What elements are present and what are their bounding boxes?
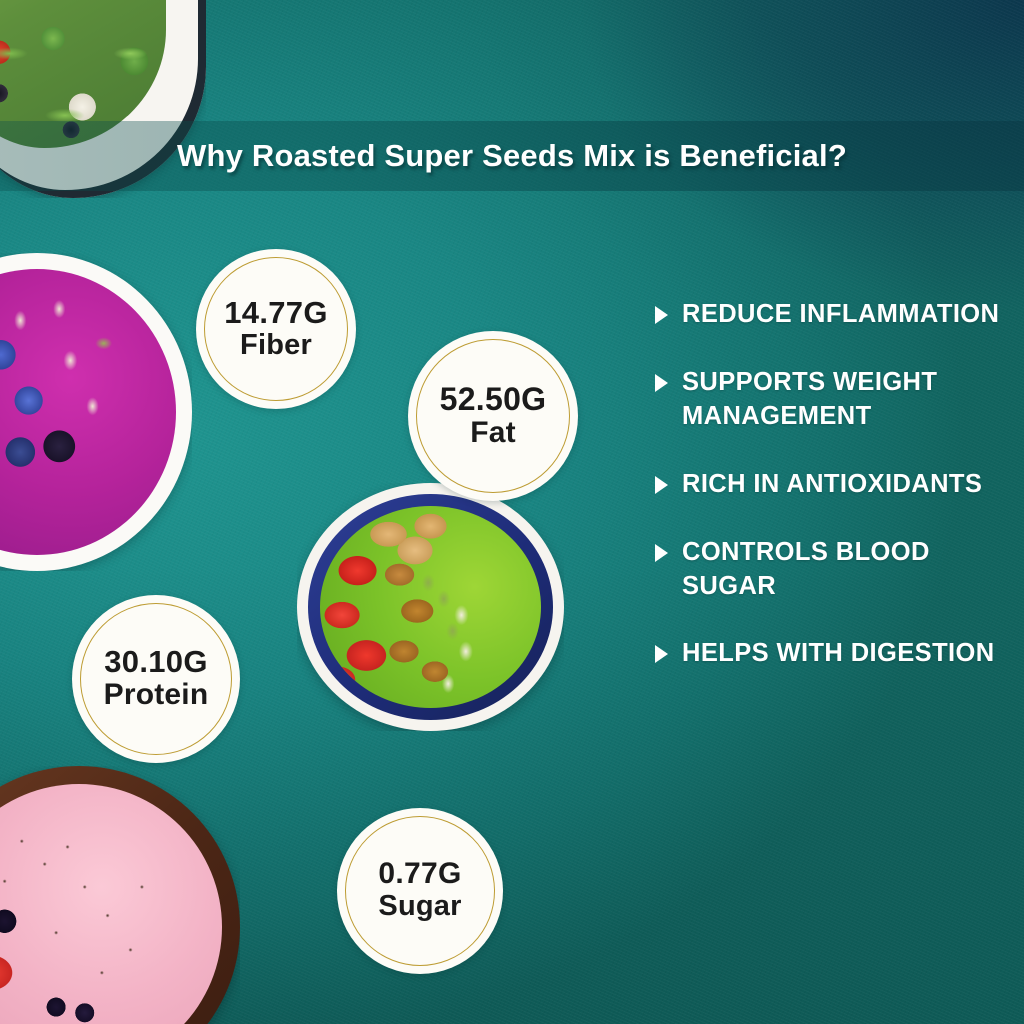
green-smoothie-bowl-photo <box>297 483 564 731</box>
triangle-right-icon <box>655 306 668 324</box>
badge-label-fat: Fat <box>470 416 516 450</box>
badge-label-fiber: Fiber <box>240 329 312 361</box>
badge-value-fiber: 14.77G <box>224 297 328 329</box>
benefit-item-helps-with-digestion: HELPS WITH DIGESTION <box>655 637 1005 671</box>
badge-value-sugar: 0.77G <box>378 859 461 890</box>
benefit-label: CONTROLS BLOOD SUGAR <box>682 536 1005 604</box>
badge-value-protein: 30.10G <box>104 646 208 678</box>
nutrition-badge-fat: 52.50G Fat <box>408 331 578 501</box>
benefit-label: REDUCE INFLAMMATION <box>682 298 999 332</box>
green-bowl-toppings <box>320 506 541 708</box>
triangle-right-icon <box>655 544 668 562</box>
benefit-label: SUPPORTS WEIGHT MANAGEMENT <box>682 366 1005 434</box>
nutrition-badge-fiber: 14.77G Fiber <box>196 249 356 409</box>
pink-yogurt-coconut-bowl-photo <box>0 766 240 1024</box>
badge-value-fat: 52.50G <box>440 383 547 416</box>
badge-label-sugar: Sugar <box>378 890 461 922</box>
infographic-canvas: Why Roasted Super Seeds Mix is Beneficia… <box>0 0 1024 1024</box>
triangle-right-icon <box>655 476 668 494</box>
triangle-right-icon <box>655 374 668 392</box>
nutrition-badge-protein: 30.10G Protein <box>72 595 240 763</box>
nutrition-badge-sugar: 0.77G Sugar <box>337 808 503 974</box>
page-title: Why Roasted Super Seeds Mix is Beneficia… <box>0 130 1024 182</box>
benefit-item-supports-weight-management: SUPPORTS WEIGHT MANAGEMENT <box>655 366 1005 434</box>
triangle-right-icon <box>655 645 668 663</box>
benefit-item-reduce-inflammation: REDUCE INFLAMMATION <box>655 298 1005 332</box>
benefit-item-controls-blood-sugar: CONTROLS BLOOD SUGAR <box>655 536 1005 604</box>
benefit-label: HELPS WITH DIGESTION <box>682 637 995 671</box>
benefit-item-rich-in-antioxidants: RICH IN ANTIOXIDANTS <box>655 468 1005 502</box>
benefits-list: REDUCE INFLAMMATION SUPPORTS WEIGHT MANA… <box>655 298 1005 671</box>
benefit-label: RICH IN ANTIOXIDANTS <box>682 468 982 502</box>
purple-berry-smoothie-bowl-photo <box>0 253 192 571</box>
badge-label-protein: Protein <box>104 678 209 712</box>
